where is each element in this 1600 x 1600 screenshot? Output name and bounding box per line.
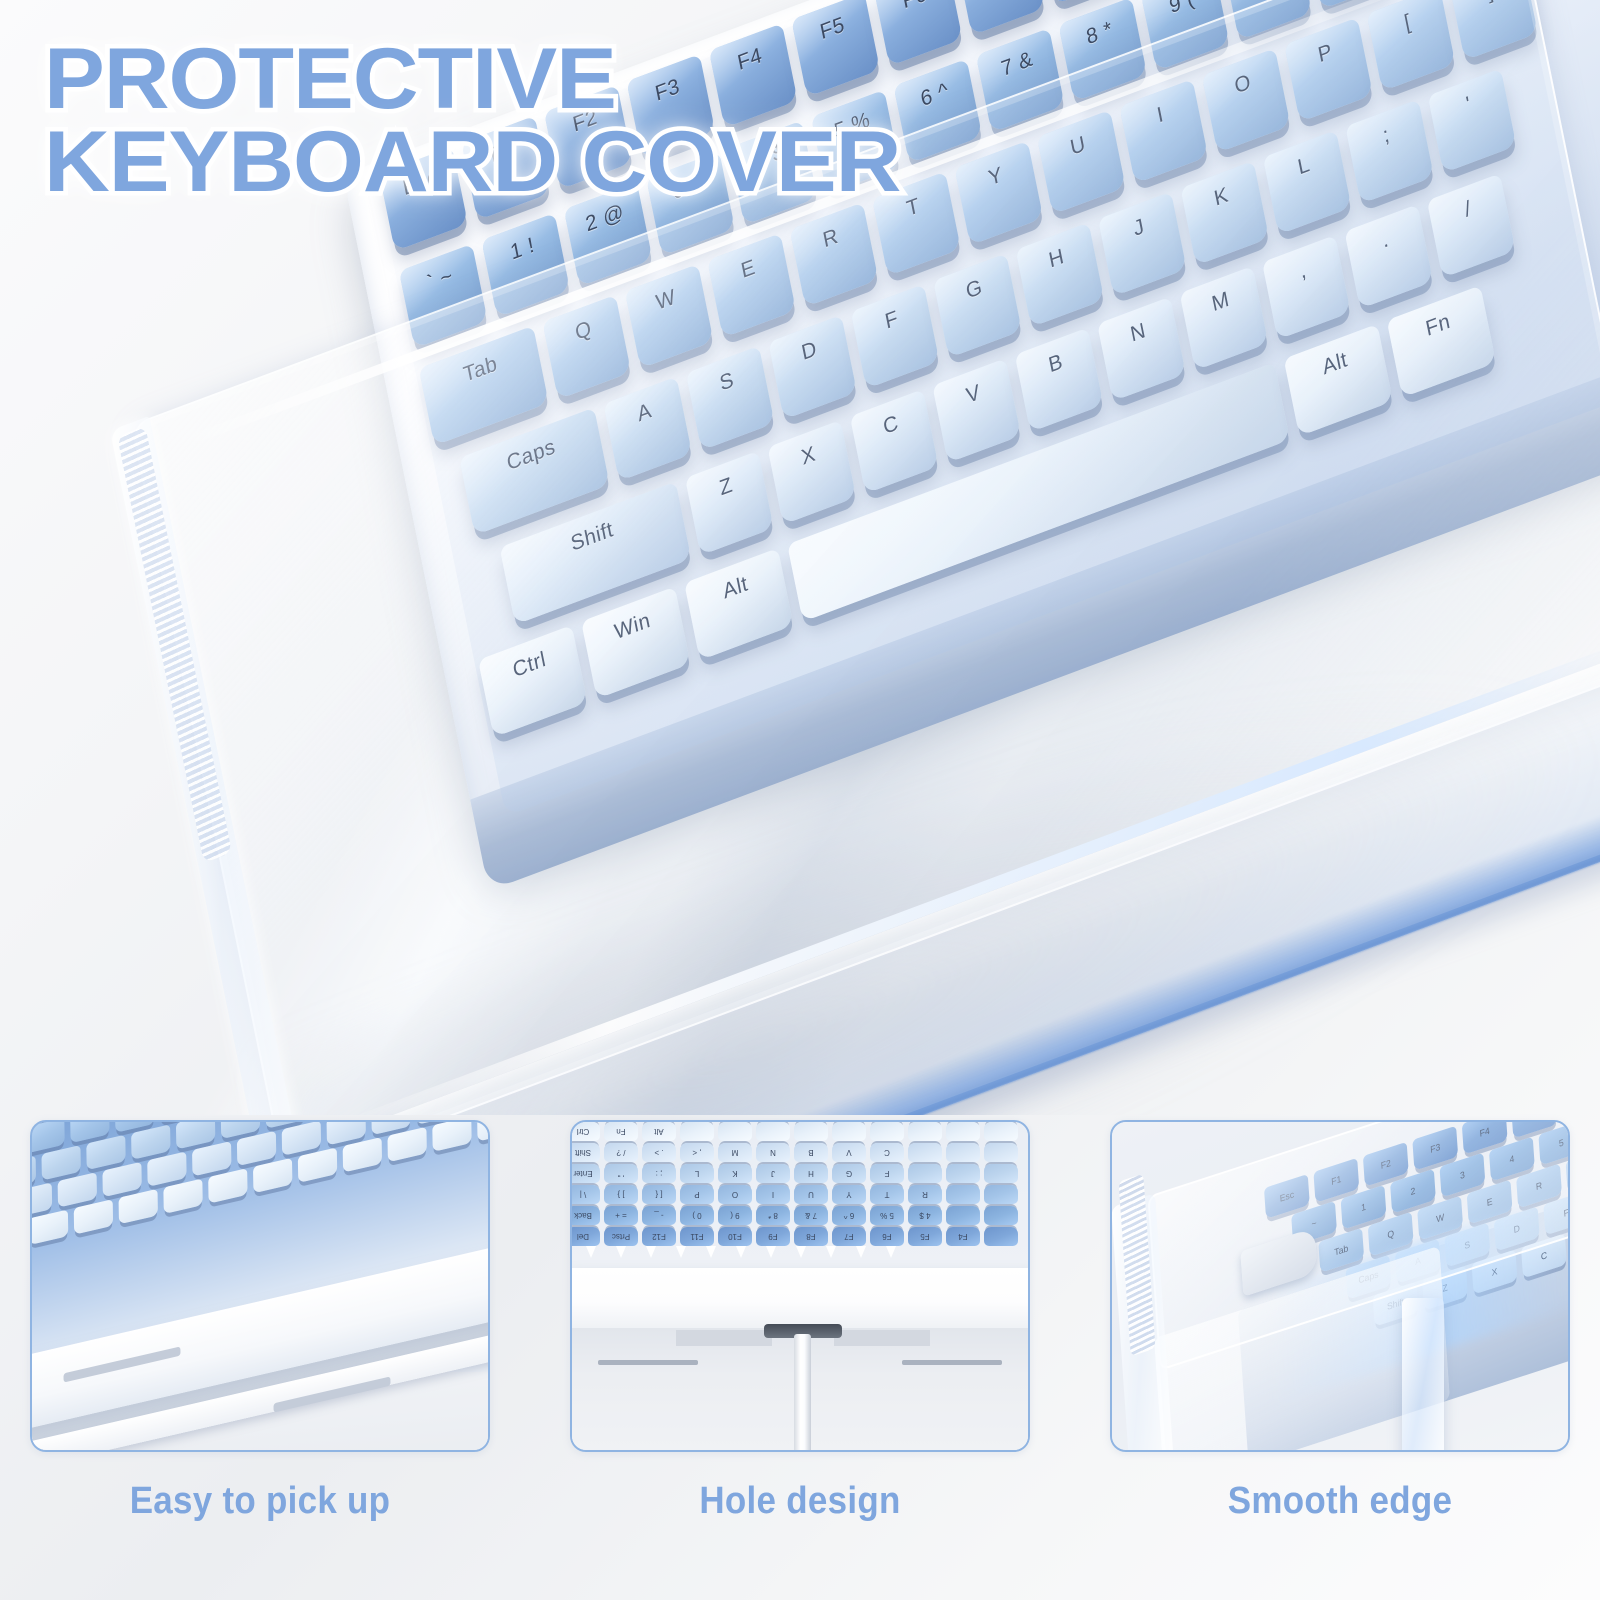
p2-keycap-legend: J bbox=[771, 1169, 775, 1178]
p1-keycap bbox=[58, 1172, 97, 1208]
p2-keycap bbox=[984, 1122, 1018, 1141]
p2-keycap-legend: P bbox=[694, 1190, 699, 1199]
p2-keycap-legend: F bbox=[885, 1169, 890, 1178]
feature-smooth-edge[interactable]: EscF1F2F3F4F5~12345TabQWERTCapsASDFGShif… bbox=[1110, 1120, 1570, 1600]
p1-keycap bbox=[343, 1137, 382, 1173]
keycap-legend: 9 ( bbox=[1167, 0, 1196, 19]
keycap-legend: ` ~ bbox=[425, 264, 455, 297]
p1-keycap bbox=[119, 1189, 158, 1225]
p2-keycap-legend: G bbox=[846, 1169, 852, 1178]
p2-keycap-legend: N bbox=[770, 1148, 776, 1157]
keycap-win[interactable]: Win bbox=[581, 586, 690, 698]
keycap-r[interactable]: R bbox=[790, 202, 879, 307]
p2-keycap-legend: M bbox=[732, 1148, 739, 1157]
keycap-z[interactable]: Z bbox=[685, 451, 774, 556]
keycap-alt[interactable]: Alt bbox=[1284, 324, 1393, 436]
p2-keycap: F12 bbox=[642, 1227, 676, 1246]
keycap-legend: ' bbox=[1464, 92, 1473, 117]
p2-switch-stem bbox=[586, 1246, 596, 1258]
p2-keycap-legend: Fn bbox=[616, 1127, 625, 1136]
p2-keycap-legend: 6 ^ bbox=[844, 1211, 854, 1220]
p2-keycap bbox=[946, 1122, 980, 1141]
p2-keycap bbox=[984, 1227, 1018, 1246]
keycap-9[interactable]: 9 ( bbox=[1141, 0, 1230, 71]
p2-keycap-legend: V bbox=[846, 1148, 851, 1157]
keycap-legend: N bbox=[1129, 318, 1149, 347]
p2-keycap: U bbox=[794, 1185, 828, 1204]
keycap-q[interactable]: Q bbox=[542, 295, 631, 400]
p2-keycap bbox=[984, 1164, 1018, 1183]
keycap-legend: V bbox=[964, 380, 982, 409]
keycap-legend: Caps bbox=[505, 435, 558, 477]
feature-panel-row: Easy to pick up CtrlFnAltShift/ ?. >, <M… bbox=[0, 1120, 1600, 1600]
keycap-tab[interactable]: Tab bbox=[419, 326, 549, 446]
feature-3-image: EscF1F2F3F4F5~12345TabQWERTCapsASDFGShif… bbox=[1110, 1120, 1570, 1452]
p2-keycap-legend: 7 & bbox=[805, 1211, 817, 1220]
p2-keycap bbox=[718, 1122, 752, 1141]
keycap-b[interactable]: B bbox=[1015, 327, 1104, 432]
keycap-legend: Win bbox=[613, 608, 653, 645]
p2-keycap: / ? bbox=[604, 1143, 638, 1162]
p2-keycap-legend: F11 bbox=[690, 1232, 703, 1241]
p2-keycap: R bbox=[908, 1185, 942, 1204]
p2-keycap: K bbox=[718, 1164, 752, 1183]
p2-keycap bbox=[908, 1164, 942, 1183]
hero-section: EscF1F2F3F4F5F6F7F8F9F10F11F12` ~1 !2 @3… bbox=[0, 0, 1600, 1115]
p2-keycap bbox=[794, 1122, 828, 1141]
keycap-legend: ; bbox=[1381, 123, 1392, 149]
keycap-v[interactable]: V bbox=[932, 358, 1021, 463]
p2-switch-stem bbox=[766, 1246, 776, 1258]
p3-acrylic-corner-post bbox=[1402, 1298, 1444, 1452]
keycap-a[interactable]: A bbox=[603, 377, 692, 482]
keycap-legend: B bbox=[1047, 349, 1065, 378]
p1-keycap bbox=[282, 1120, 321, 1156]
keycap-legend: M bbox=[1210, 287, 1232, 317]
p2-keycap-legend: F8 bbox=[806, 1232, 815, 1241]
feature-1-image bbox=[30, 1120, 490, 1452]
p1-keycap bbox=[86, 1135, 125, 1171]
p2-keycap: F8 bbox=[794, 1227, 828, 1246]
p2-switch-stem bbox=[676, 1246, 686, 1258]
keycap-legend: F6 bbox=[901, 0, 930, 15]
keycap-legend: Z bbox=[717, 473, 734, 501]
keycap-legend: O bbox=[1233, 70, 1254, 100]
p2-keycap: Alt bbox=[642, 1122, 676, 1141]
feature-hole-design[interactable]: CtrlFnAltShift/ ?. >, <MNBVCEnter' "; :L… bbox=[570, 1120, 1030, 1600]
p2-keycap bbox=[984, 1206, 1018, 1225]
p2-keycap-legend: B bbox=[808, 1148, 813, 1157]
p2-keycap-legend: F7 bbox=[844, 1232, 853, 1241]
keycap-legend: J bbox=[1132, 214, 1147, 242]
p1-keycap bbox=[102, 1162, 141, 1198]
p2-keycap: T bbox=[870, 1185, 904, 1204]
p2-keycap: V bbox=[832, 1143, 866, 1162]
p2-row-3: Enter' "; :LKJHGF bbox=[570, 1164, 1018, 1183]
p2-keycap-legend: \ | bbox=[580, 1190, 587, 1199]
keycap-legend: ] bbox=[1485, 0, 1496, 5]
p2-keycap: Fn bbox=[604, 1122, 638, 1141]
keycap-legend: R bbox=[821, 224, 841, 253]
p2-keycap-legend: . > bbox=[654, 1148, 663, 1157]
keycap-legend: Fn bbox=[1424, 309, 1453, 342]
p2-keycap-legend: Prtsc bbox=[612, 1232, 630, 1241]
keycap-legend: F bbox=[883, 306, 900, 334]
p2-ledge-right bbox=[834, 1330, 930, 1346]
p2-keycap: B bbox=[794, 1143, 828, 1162]
page-title: PROTECTIVE KEYBOARD COVER bbox=[44, 38, 1104, 203]
p2-keycap bbox=[908, 1122, 942, 1141]
keycap-legend: D bbox=[800, 337, 820, 366]
p2-keycap-legend: = + bbox=[615, 1211, 627, 1220]
keycap-o[interactable]: O bbox=[1202, 48, 1291, 153]
keycap-e[interactable]: E bbox=[707, 233, 796, 338]
p2-keycap-legend: Del bbox=[577, 1232, 589, 1241]
p2-keycap-legend: - _ bbox=[654, 1211, 663, 1220]
p1-keycap bbox=[131, 1124, 170, 1160]
p2-keycap: Ctrl bbox=[570, 1122, 600, 1141]
keycap-sym[interactable]: , bbox=[1262, 235, 1351, 340]
p2-keycap: [ { bbox=[642, 1185, 676, 1204]
p2-keycap bbox=[946, 1185, 980, 1204]
p2-keycap bbox=[946, 1164, 980, 1183]
keycap-i[interactable]: I bbox=[1119, 79, 1208, 184]
p2-slot-left bbox=[598, 1360, 698, 1365]
p2-keycap-legend: 4 $ bbox=[919, 1211, 930, 1220]
keycap-legend: E bbox=[739, 255, 757, 284]
keycap-w[interactable]: W bbox=[625, 264, 714, 369]
p2-keycap-legend: I bbox=[772, 1190, 774, 1199]
p2-keycap: F6 bbox=[870, 1227, 904, 1246]
p2-keycap: P bbox=[680, 1185, 714, 1204]
keycap-legend: Tab bbox=[462, 352, 500, 388]
keycap-legend: Ctrl bbox=[511, 647, 548, 683]
p2-switch-stem bbox=[646, 1246, 656, 1258]
keycap-sym[interactable]: . bbox=[1344, 204, 1433, 309]
keycap-legend: Alt bbox=[721, 572, 750, 605]
p2-keycap: M bbox=[718, 1143, 752, 1162]
keycap-legend: Shift bbox=[569, 518, 616, 557]
p2-keycap-legend: 8 * bbox=[768, 1211, 778, 1220]
keycap-p[interactable]: P bbox=[1284, 17, 1373, 122]
p2-keycap: C bbox=[870, 1143, 904, 1162]
p2-ledge-left bbox=[676, 1330, 772, 1346]
feature-2-image: CtrlFnAltShift/ ?. >, <MNBVCEnter' "; :L… bbox=[570, 1120, 1030, 1452]
p2-keycap: 9 ( bbox=[718, 1206, 752, 1225]
p1-keycap bbox=[147, 1151, 186, 1187]
p2-keycap-legend: Alt bbox=[654, 1127, 663, 1136]
p2-keycap-legend: 0 ) bbox=[692, 1211, 701, 1220]
keycap-1[interactable]: 1 ! bbox=[481, 213, 570, 318]
p2-keycap: 6 ^ bbox=[832, 1206, 866, 1225]
p2-keycap bbox=[984, 1143, 1018, 1162]
p2-keycap: 8 * bbox=[756, 1206, 790, 1225]
p2-keycap-legend: R bbox=[922, 1190, 928, 1199]
p2-keycap: F9 bbox=[756, 1227, 790, 1246]
p2-slot-right bbox=[902, 1360, 1002, 1365]
p2-keycap: 7 & bbox=[794, 1206, 828, 1225]
p2-keycap: F10 bbox=[718, 1227, 752, 1246]
keycap-d[interactable]: D bbox=[768, 315, 857, 420]
p2-keycap bbox=[946, 1143, 980, 1162]
keycap-x[interactable]: X bbox=[767, 420, 856, 525]
p2-keycap: = + bbox=[604, 1206, 638, 1225]
p2-keycap-legend: , < bbox=[692, 1148, 701, 1157]
p2-keycap: , < bbox=[680, 1143, 714, 1162]
keycap-l[interactable]: L bbox=[1263, 130, 1352, 235]
keycap-legend: A bbox=[635, 399, 653, 428]
keycap-sym[interactable]: ` ~ bbox=[399, 244, 488, 349]
keycap-j[interactable]: J bbox=[1098, 192, 1187, 297]
p1-keycap bbox=[74, 1199, 113, 1235]
keycap-legend: Alt bbox=[1320, 348, 1349, 381]
p2-switch-stem bbox=[706, 1246, 716, 1258]
feature-2-caption: Hole design bbox=[588, 1480, 1011, 1523]
keycap-legend: L bbox=[1296, 153, 1312, 181]
p1-keycap bbox=[192, 1141, 231, 1177]
keycap-legend: / bbox=[1463, 197, 1474, 223]
p2-keycap-legend: ' " bbox=[618, 1169, 625, 1178]
p2-switch-stem bbox=[616, 1246, 626, 1258]
p2-keycap-legend: / ? bbox=[617, 1148, 626, 1157]
keycap-sym[interactable]: ' bbox=[1428, 68, 1517, 173]
p2-keycap: Enter bbox=[570, 1164, 600, 1183]
p2-keycap-legend: T bbox=[885, 1190, 890, 1199]
p2-keycap-legend: C bbox=[884, 1148, 890, 1157]
p2-keycap: ' " bbox=[604, 1164, 638, 1183]
p2-keycap: O bbox=[718, 1185, 752, 1204]
keycap-legend: Q bbox=[573, 316, 594, 346]
p1-keycap bbox=[477, 1120, 490, 1142]
p2-keycap: H bbox=[794, 1164, 828, 1183]
keycap-legend: 1 ! bbox=[508, 233, 536, 266]
p2-keycap-legend: 9 ( bbox=[730, 1211, 739, 1220]
p2-row-4: \ |] }[ {POIUYTR bbox=[570, 1185, 1018, 1204]
keycap-legend: X bbox=[799, 442, 817, 471]
keycap-legend: , bbox=[1298, 258, 1309, 284]
p2-switch-stem bbox=[826, 1246, 836, 1258]
p2-keycap-legend: U bbox=[808, 1190, 814, 1199]
p2-keycap-legend: F5 bbox=[920, 1232, 929, 1241]
p1-keycap bbox=[432, 1120, 471, 1152]
p2-keycap-legend: F4 bbox=[958, 1232, 967, 1241]
p2-keycap-legend: ; : bbox=[656, 1169, 663, 1178]
p1-keycap bbox=[30, 1209, 68, 1245]
keycap-legend: C bbox=[881, 411, 901, 440]
p2-keycap: ; : bbox=[642, 1164, 676, 1183]
keycap-s[interactable]: S bbox=[686, 346, 775, 451]
keycap-ctrl[interactable]: Ctrl bbox=[478, 625, 587, 737]
keycap-k[interactable]: K bbox=[1180, 161, 1269, 266]
keycap-legend: S bbox=[718, 368, 736, 397]
p2-keycap-legend: Ctrl bbox=[577, 1127, 589, 1136]
p2-keycap-legend: K bbox=[732, 1169, 737, 1178]
keycap-alt[interactable]: Alt bbox=[684, 548, 793, 660]
feature-easy-to-pick-up[interactable]: Easy to pick up bbox=[30, 1120, 490, 1600]
p1-keycap bbox=[253, 1158, 292, 1194]
p2-keycap: J bbox=[756, 1164, 790, 1183]
keycap-m[interactable]: M bbox=[1180, 266, 1269, 371]
p2-keycap: L bbox=[680, 1164, 714, 1183]
keycap-h[interactable]: H bbox=[1015, 223, 1104, 328]
p2-keycap-legend: F9 bbox=[768, 1232, 777, 1241]
keycap-g[interactable]: G bbox=[933, 253, 1022, 358]
p2-keycap-legend: H bbox=[808, 1169, 814, 1178]
keycap-sym[interactable]: / bbox=[1427, 173, 1516, 278]
p2-keycap: Y bbox=[832, 1185, 866, 1204]
keycap-c[interactable]: C bbox=[850, 389, 939, 494]
p2-keycap bbox=[756, 1122, 790, 1141]
p2-switch-stem bbox=[856, 1246, 866, 1258]
p1-keycap bbox=[41, 1145, 80, 1181]
product-marketing-page: EscF1F2F3F4F5F6F7F8F9F10F11F12` ~1 !2 @3… bbox=[0, 0, 1600, 1600]
p2-keycap: 0 ) bbox=[680, 1206, 714, 1225]
p2-keycap-legend: Y bbox=[846, 1190, 851, 1199]
keycap-legend: . bbox=[1380, 228, 1391, 254]
p2-keycap-legend: F6 bbox=[882, 1232, 891, 1241]
p2-keycap: Prtsc bbox=[604, 1227, 638, 1246]
p1-keycap bbox=[30, 1120, 65, 1154]
feature-3-caption: Smooth edge bbox=[1128, 1480, 1551, 1523]
p2-keycap: ] } bbox=[604, 1185, 638, 1204]
p2-keycap: Back bbox=[570, 1206, 600, 1225]
p2-keycap: N bbox=[756, 1143, 790, 1162]
keycap-legend: [ bbox=[1402, 10, 1413, 36]
p2-switch-stem bbox=[886, 1246, 896, 1258]
p2-row-1: CtrlFnAlt bbox=[570, 1122, 1018, 1141]
feature-1-caption: Easy to pick up bbox=[48, 1480, 471, 1523]
keycap-0[interactable]: 0 ) bbox=[1223, 0, 1312, 40]
p2-switch-stem bbox=[796, 1246, 806, 1258]
keycap-legend: H bbox=[1047, 244, 1067, 273]
p2-keycap: F11 bbox=[680, 1227, 714, 1246]
p2-keycap: G bbox=[832, 1164, 866, 1183]
p2-usb-cable bbox=[794, 1334, 811, 1452]
p2-keycap: \ | bbox=[570, 1185, 600, 1204]
p2-keycap: 4 $ bbox=[908, 1206, 942, 1225]
p2-keycap-legend: F12 bbox=[652, 1232, 666, 1241]
keycap-sym[interactable]: ] bbox=[1449, 0, 1538, 61]
p2-keyboard-case bbox=[572, 1268, 1030, 1330]
keycap-legend: G bbox=[964, 275, 985, 305]
p2-keycap: Del bbox=[570, 1227, 600, 1246]
p1-keycap bbox=[237, 1131, 276, 1167]
p2-keycap bbox=[984, 1185, 1018, 1204]
keycap-sym[interactable]: ; bbox=[1345, 99, 1434, 204]
keycap-legend: I bbox=[1155, 103, 1166, 129]
p2-keycap: Shift bbox=[570, 1143, 600, 1162]
p2-keycap: I bbox=[756, 1185, 790, 1204]
p2-keycap: - _ bbox=[642, 1206, 676, 1225]
p2-keycap: 5 % bbox=[870, 1206, 904, 1225]
p1-keycap bbox=[208, 1168, 247, 1204]
p2-keycap: F bbox=[870, 1164, 904, 1183]
p1-keycap bbox=[163, 1178, 202, 1214]
p2-switch-stems bbox=[572, 1246, 1030, 1268]
p2-row-2: Shift/ ?. >, <MNBVC bbox=[570, 1143, 1018, 1162]
p2-row-5: Back= +- _0 )9 (8 *7 &6 ^5 %4 $ bbox=[570, 1206, 1018, 1225]
keycap-f7[interactable]: F7 bbox=[956, 0, 1045, 36]
p2-keycap-legend: O bbox=[732, 1190, 738, 1199]
keycap-fn[interactable]: Fn bbox=[1387, 285, 1496, 397]
p2-switch-stem bbox=[736, 1246, 746, 1258]
keycap-legend: W bbox=[654, 285, 678, 316]
keycap-legend: P bbox=[1316, 39, 1334, 68]
p2-row-6: DelPrtscF12F11F10F9F8F7F6F5F4 bbox=[570, 1227, 1018, 1246]
p2-keycap: F7 bbox=[832, 1227, 866, 1246]
p2-keycap-legend: L bbox=[695, 1169, 699, 1178]
p2-keycap-legend: Back bbox=[574, 1211, 592, 1220]
p2-keycap: F4 bbox=[946, 1227, 980, 1246]
p1-keycap bbox=[298, 1147, 337, 1183]
p2-keycap-legend: ] } bbox=[617, 1190, 624, 1199]
p2-keycap bbox=[946, 1206, 980, 1225]
p2-keycap-legend: 5 % bbox=[880, 1211, 894, 1220]
p1-keycap bbox=[387, 1127, 426, 1163]
p2-keycap-legend: Shift bbox=[575, 1148, 591, 1157]
p2-keycap-legend: Enter bbox=[573, 1169, 592, 1178]
p2-keycap bbox=[832, 1122, 866, 1141]
keycap-n[interactable]: N bbox=[1097, 297, 1186, 402]
p2-keycap bbox=[870, 1122, 904, 1141]
p2-keycap-legend: [ { bbox=[655, 1190, 662, 1199]
p2-keycap: . > bbox=[642, 1143, 676, 1162]
keycap-f[interactable]: F bbox=[851, 284, 940, 389]
p2-keycap bbox=[908, 1143, 942, 1162]
keycap-sym[interactable]: [ bbox=[1367, 0, 1456, 91]
p2-keycap bbox=[680, 1122, 714, 1141]
p2-keycap-legend: F10 bbox=[728, 1232, 742, 1241]
keycap-legend: K bbox=[1212, 183, 1230, 212]
p2-keycap: F5 bbox=[908, 1227, 942, 1246]
